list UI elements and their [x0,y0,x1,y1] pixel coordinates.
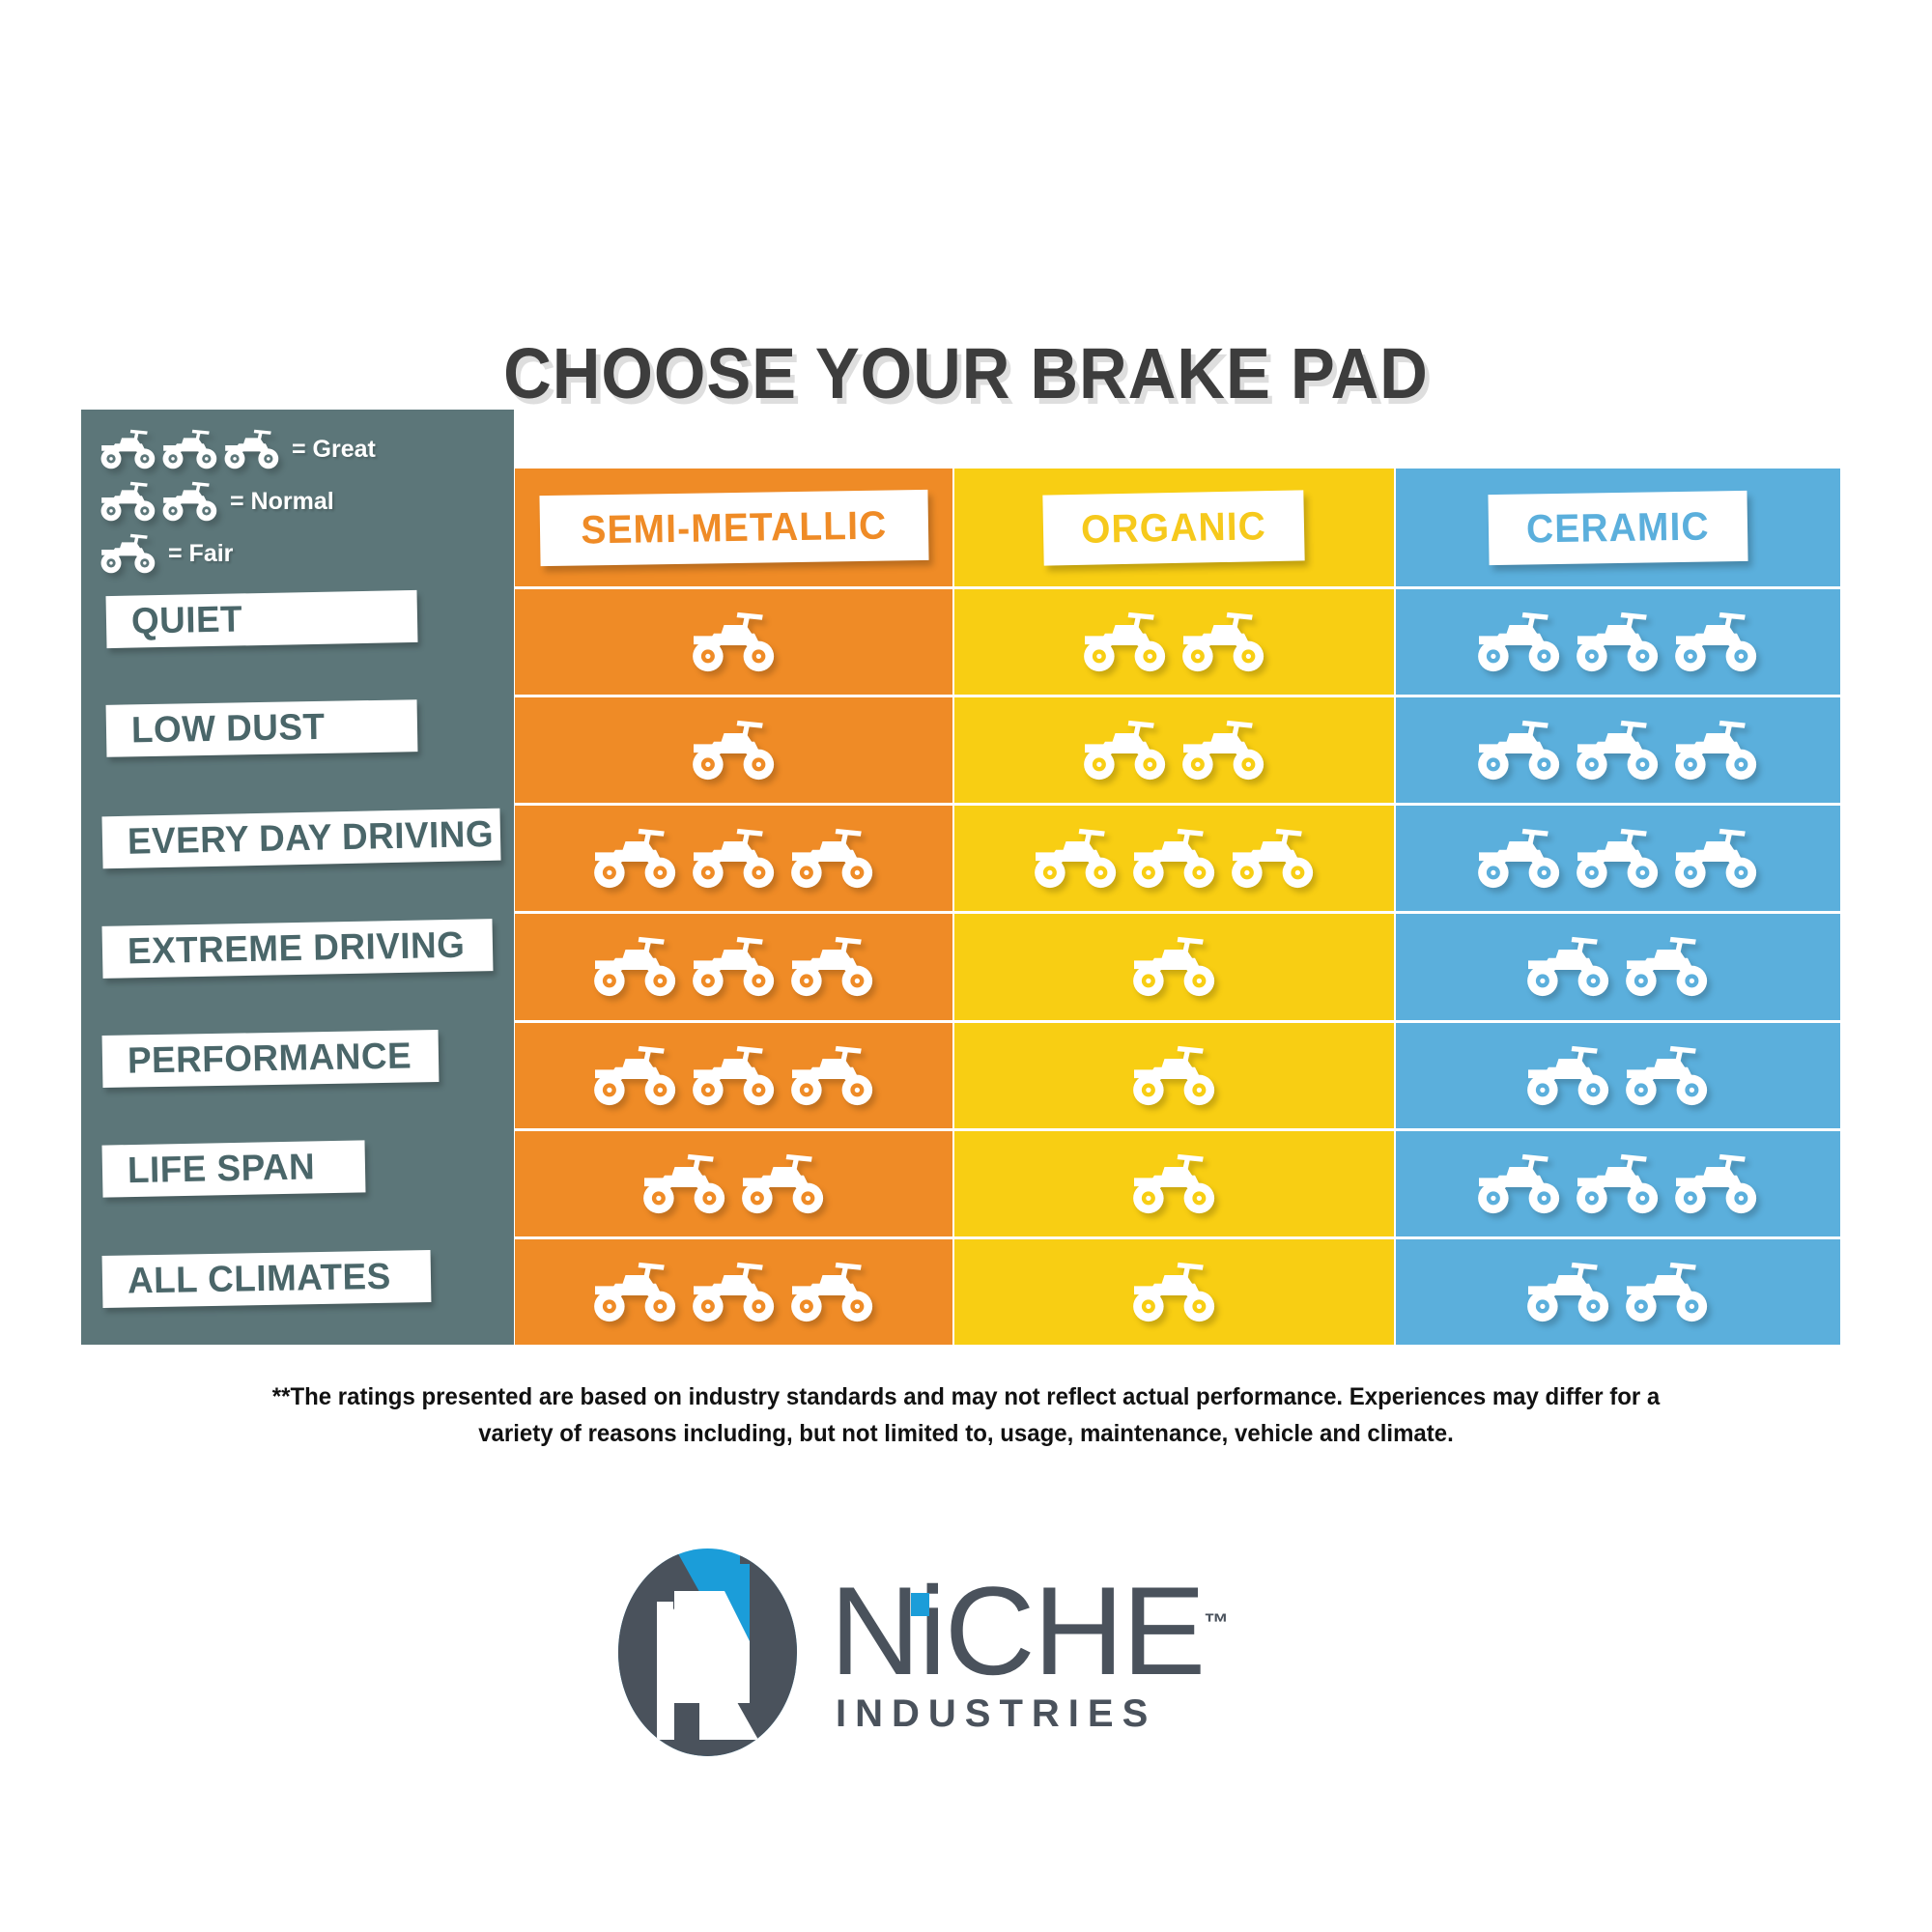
atv-quad-icon [593,936,678,997]
atv-quad-icon [1477,828,1562,889]
atv-quad-icon [1674,611,1759,672]
atv-quad-icon [790,1262,875,1322]
infographic-root: CHOOSE YOUR BRAKE PAD = Great = Normal =… [0,0,1932,1932]
legend-icons-normal [100,481,224,522]
cell-organic-quiet [954,586,1394,695]
atv-quad-icon [1083,611,1168,672]
column-header-semi-metallic: SEMI-METALLIC [515,469,952,586]
atv-quad-icon [1526,1262,1611,1322]
header-plate: SEMI-METALLIC [539,489,928,565]
legend-item-great: = Great [100,423,497,475]
cell-ceramic-performance [1396,1020,1840,1128]
cell-semi-metallic-low-dust [515,695,952,803]
cell-organic-all-climates [954,1236,1394,1345]
atv-quad-icon [1132,1262,1217,1322]
atv-quad-icon [1526,1045,1611,1106]
row-label-text: ALL CLIMATES [128,1256,391,1302]
atv-quad-icon [1576,611,1661,672]
legend-label-normal: = Normal [230,488,334,516]
header-plate: CERAMIC [1489,490,1748,564]
atv-quad-icon [1526,936,1611,997]
atv-quad-icon [1625,1262,1710,1322]
cell-semi-metallic-every-day-driving [515,803,952,911]
column-header-label: CERAMIC [1526,503,1710,552]
cell-semi-metallic-extreme-driving [515,911,952,1019]
logo-text-block: NiCHE™ INDUSTRIES [830,1568,1229,1737]
atv-quad-icon [100,429,156,469]
atv-quad-icon [692,1045,777,1106]
cell-ceramic-quiet [1396,586,1840,695]
logo-wordmark-text: NiCHE [830,1560,1204,1701]
comparison-table: SEMI-METALLIC ORGANIC [515,469,1840,1345]
column-header-organic: ORGANIC [954,469,1394,586]
atv-quad-icon [790,1045,875,1106]
cell-semi-metallic-life-span [515,1128,952,1236]
legend: = Great = Normal = Fair [100,423,497,580]
row-label-every-day-driving: EVERY DAY DRIVING [101,809,500,869]
cell-ceramic-extreme-driving [1396,911,1840,1019]
footnote: **The ratings presented are based on ind… [270,1379,1662,1452]
atv-quad-icon [1576,1153,1661,1214]
cell-ceramic-life-span [1396,1128,1840,1236]
row-label-text: QUIET [131,599,243,642]
atv-quad-icon [1477,1153,1562,1214]
atv-quad-icon [790,936,875,997]
row-label-text: PERFORMANCE [128,1036,412,1082]
cell-semi-metallic-all-climates [515,1236,952,1345]
atv-quad-icon [1083,720,1168,781]
page-title: CHOOSE YOUR BRAKE PAD [68,332,1864,414]
row-label-all-climates: ALL CLIMATES [102,1250,432,1308]
trademark-symbol: ™ [1204,1607,1229,1636]
column-header-ceramic: CERAMIC [1396,469,1840,586]
column-header-label: ORGANIC [1081,503,1267,553]
legend-icons-fair [100,533,162,574]
atv-quad-icon [692,828,777,889]
atv-quad-icon [162,481,218,522]
cell-ceramic-all-climates [1396,1236,1840,1345]
cell-ceramic-low-dust [1396,695,1840,803]
row-label-low-dust: LOW DUST [106,699,418,757]
row-label-text: LIFE SPAN [128,1147,316,1192]
atv-quad-icon [1625,936,1710,997]
atv-quad-icon [1674,1153,1759,1214]
atv-quad-icon [1181,611,1266,672]
column-semi-metallic: SEMI-METALLIC [515,469,952,1345]
cell-organic-life-span [954,1128,1394,1236]
atv-quad-icon [1576,828,1661,889]
atv-quad-icon [790,828,875,889]
cell-organic-low-dust [954,695,1394,803]
cell-organic-every-day-driving [954,803,1394,911]
footnote-line-2: variety of reasons including, but not li… [270,1416,1662,1453]
brand-logo: NiCHE™ INDUSTRIES [618,1541,1323,1763]
atv-quad-icon [1132,1153,1217,1214]
row-label-text: LOW DUST [131,706,326,751]
atv-quad-icon [741,1153,826,1214]
legend-item-normal: = Normal [100,475,497,527]
cell-ceramic-every-day-driving [1396,803,1840,911]
atv-quad-icon [100,533,156,574]
logo-wordmark: NiCHE™ [830,1574,1229,1690]
atv-quad-icon [692,1262,777,1322]
atv-quad-icon [692,936,777,997]
column-header-label: SEMI-METALLIC [581,502,888,553]
column-organic: ORGANIC [954,469,1394,1345]
atv-quad-icon [1034,828,1119,889]
header-plate: ORGANIC [1043,490,1305,565]
row-label-quiet: QUIET [106,590,418,648]
legend-icons-great [100,429,286,469]
atv-quad-icon [593,1262,678,1322]
cell-organic-performance [954,1020,1394,1128]
atv-quad-icon [224,429,280,469]
legend-item-fair: = Fair [100,527,497,580]
atv-quad-icon [1132,1045,1217,1106]
atv-quad-icon [1674,828,1759,889]
atv-quad-icon [1625,1045,1710,1106]
legend-label-great: = Great [292,436,376,464]
footnote-line-1: **The ratings presented are based on ind… [270,1379,1662,1416]
logo-i-dot [911,1593,929,1616]
cell-organic-extreme-driving [954,911,1394,1019]
atv-quad-icon [692,720,777,781]
sidebar-panel: = Great = Normal = Fair QUIET LOW DUST E… [81,410,514,1345]
niche-n-mark-icon [618,1548,797,1756]
atv-quad-icon [100,481,156,522]
atv-quad-icon [1674,720,1759,781]
atv-quad-icon [642,1153,727,1214]
atv-quad-icon [1576,720,1661,781]
column-ceramic: CERAMIC [1396,469,1840,1345]
cell-semi-metallic-performance [515,1020,952,1128]
atv-quad-icon [1477,611,1562,672]
legend-label-fair: = Fair [168,540,233,568]
row-label-performance: PERFORMANCE [102,1030,440,1088]
row-label-extreme-driving: EXTREME DRIVING [102,919,494,979]
row-label-life-span: LIFE SPAN [102,1140,366,1197]
row-label-text: EXTREME DRIVING [128,924,466,973]
atv-quad-icon [1231,828,1316,889]
atv-quad-icon [593,828,678,889]
atv-quad-icon [1132,828,1217,889]
row-label-text: EVERY DAY DRIVING [128,813,495,863]
cell-semi-metallic-quiet [515,586,952,695]
atv-quad-icon [593,1045,678,1106]
atv-quad-icon [1477,720,1562,781]
atv-quad-icon [162,429,218,469]
atv-quad-icon [1132,936,1217,997]
atv-quad-icon [692,611,777,672]
atv-quad-icon [1181,720,1266,781]
